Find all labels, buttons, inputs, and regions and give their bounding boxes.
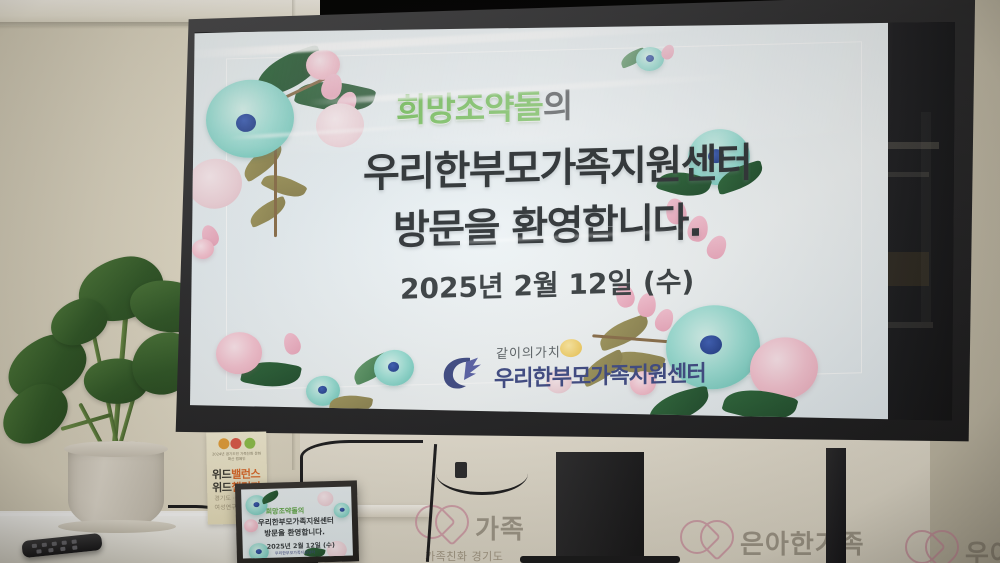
- framed-sign-slide: 희망조약돌의 우리한부모가족지원센터 방문을 환영합니다. 2025년 2월 1…: [241, 486, 353, 558]
- photo-scene: 가족 가족친화 경기도 은아한가족 우아한: [0, 0, 1000, 563]
- heart-outline-icon: [680, 520, 734, 554]
- slide-welcome-line: 방문을 환영합니다.: [393, 190, 702, 256]
- planter-rim: [64, 441, 168, 457]
- framed-sign-logo: 우리한부모가족지원센터: [275, 550, 316, 557]
- tv-stand-column-right: [826, 448, 846, 563]
- screen-glare-soft: [190, 22, 888, 153]
- poster-header: 2024년 경기도민 가족친화 문화확산 캠페인: [212, 452, 262, 463]
- tv-stand-column: [556, 452, 644, 563]
- framed-sign-line-3: 방문을 환영합니다.: [264, 526, 325, 539]
- presentation-slide: 희망조약돌의 우리한부모가족지원센터 방문을 환영합니다. 2025년 2월 1…: [190, 22, 888, 427]
- tv-stand-base: [520, 556, 680, 563]
- heart-outline-icon: [905, 530, 959, 563]
- heart-outline-icon: [415, 505, 469, 539]
- swirl-wave-logo-icon: [440, 351, 484, 392]
- wall-graphic-label: 가족: [475, 509, 525, 546]
- tv-screen[interactable]: 희망조약돌의 우리한부모가족지원센터 방문을 환영합니다. 2025년 2월 1…: [190, 22, 955, 427]
- wall-graphic-label: 우아한: [965, 534, 1000, 563]
- ceramic-planter: [68, 445, 164, 530]
- logo-name: 우리한부모가족지원센터: [494, 355, 706, 393]
- wall-mounted-television[interactable]: 희망조약돌의 우리한부모가족지원센터 방문을 환영합니다. 2025년 2월 1…: [170, 0, 980, 462]
- planter-saucer: [58, 520, 176, 533]
- wall-graphic-subtext: 가족친화 경기도: [425, 548, 503, 563]
- framed-sign[interactable]: 희망조약돌의 우리한부모가족지원센터 방문을 환영합니다. 2025년 2월 1…: [235, 480, 359, 563]
- organization-logo: 같이의가치 우리한부모가족지원센터: [440, 338, 670, 398]
- poster-emblems: [212, 438, 260, 451]
- slide-date: 2025년 2월 12일 (수): [400, 260, 694, 308]
